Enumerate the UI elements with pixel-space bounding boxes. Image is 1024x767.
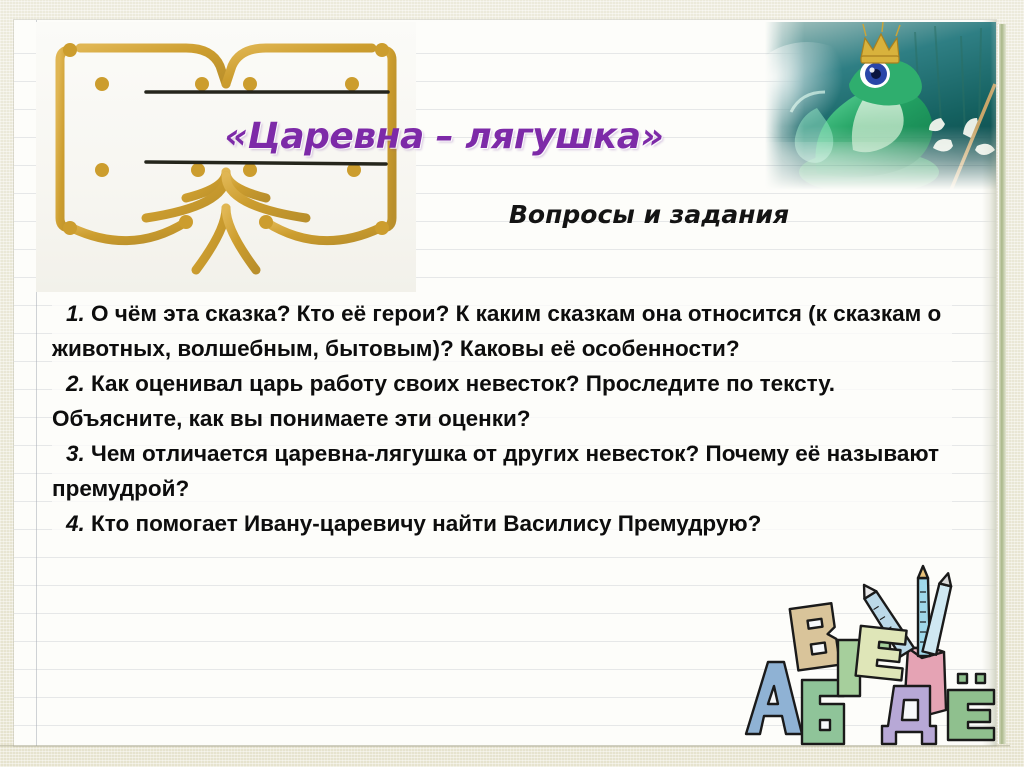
question-number: 2. bbox=[52, 371, 85, 396]
question-number: 3. bbox=[52, 441, 85, 466]
page-title: «Царевна – лягушка» bbox=[134, 116, 754, 157]
question-number: 1. bbox=[52, 301, 85, 326]
page-bottom-edge bbox=[0, 745, 1010, 747]
notebook-binding-strip bbox=[999, 24, 1006, 744]
question-text: О чём эта сказка? Кто её герои? К каким … bbox=[52, 301, 941, 361]
question-text: Как оценивал царь работу своих невесток?… bbox=[52, 371, 835, 431]
question-item: 3. Чем отличается царевна-лягушка от дру… bbox=[52, 436, 952, 506]
question-item: 4. Кто помогает Ивану-царевичу найти Вас… bbox=[52, 506, 952, 541]
slide-canvas: «Царевна – лягушка» Вопросы и задания 1.… bbox=[0, 0, 1024, 767]
notebook-page: «Царевна – лягушка» Вопросы и задания 1.… bbox=[14, 20, 996, 746]
page-subtitle: Вопросы и задания bbox=[414, 200, 884, 229]
open-book-icon bbox=[36, 22, 416, 292]
question-item: 2. Как оценивал царь работу своих невест… bbox=[52, 366, 952, 436]
questions-list: 1. О чём эта сказка? Кто её герои? К как… bbox=[52, 296, 952, 541]
frog-princess-image bbox=[765, 22, 996, 190]
alphabet-letters-clipart bbox=[732, 544, 996, 746]
question-text: Кто помогает Ивану-царевичу найти Васили… bbox=[91, 511, 761, 536]
question-text: Чем отличается царевна-лягушка от других… bbox=[52, 441, 939, 501]
question-number: 4. bbox=[52, 511, 85, 536]
question-item: 1. О чём эта сказка? Кто её герои? К как… bbox=[52, 296, 952, 366]
